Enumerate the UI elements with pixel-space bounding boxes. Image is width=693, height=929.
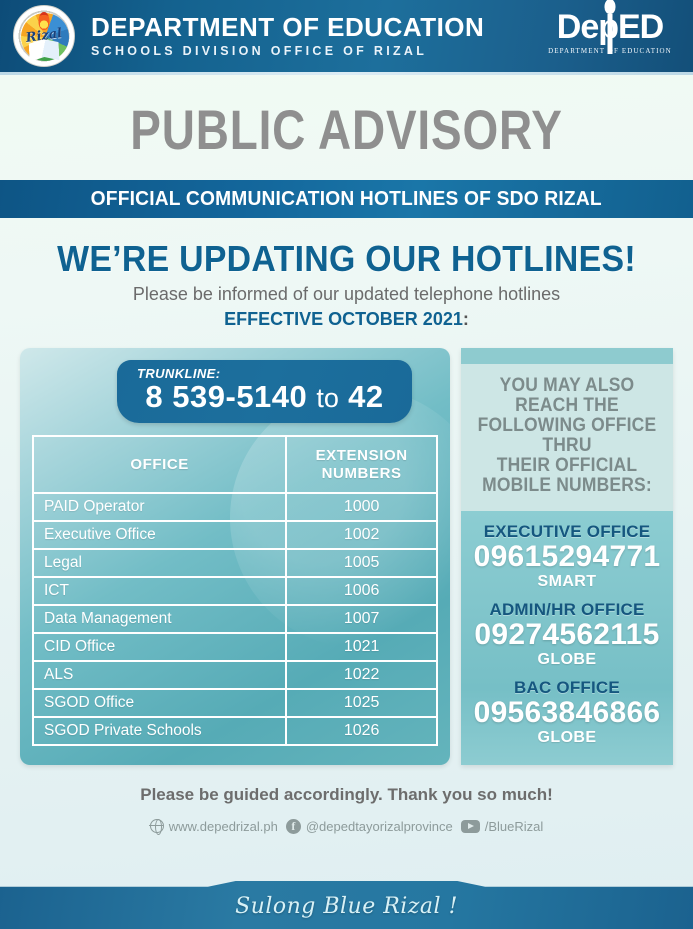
effective-date-colon: : [463, 309, 469, 329]
youtube-handle: /BlueRizal [485, 819, 544, 834]
cell-office: SGOD Private Schools [34, 718, 287, 744]
cell-office: Data Management [34, 606, 287, 634]
table-row: ICT1006 [34, 578, 436, 606]
mobile-entry-office: ADMIN/HR OFFICE [467, 601, 667, 620]
mobile-panel-top-bar [461, 348, 673, 364]
table-row: SGOD Private Schools1026 [34, 718, 436, 744]
column-header-extension-line2: NUMBERS [293, 465, 430, 482]
extension-numbers-table: OFFICE EXTENSION NUMBERS PAID Operator10… [32, 435, 438, 746]
youtube-icon [461, 820, 480, 833]
subtitle-banner: OFFICIAL COMMUNICATION HOTLINES OF SDO R… [0, 180, 693, 218]
page-title: PUBLIC ADVISORY [62, 102, 630, 158]
cell-extension: 1006 [287, 578, 436, 606]
cell-extension: 1022 [287, 662, 436, 690]
deped-torch-stem-icon [608, 14, 613, 54]
youtube-link[interactable]: /BlueRizal [461, 819, 544, 834]
table-header-row: OFFICE EXTENSION NUMBERS [34, 437, 436, 494]
cell-extension: 1000 [287, 494, 436, 522]
social-links: www.depedrizal.ph f @depedtayorizalprovi… [0, 819, 693, 834]
table-row: Data Management1007 [34, 606, 436, 634]
column-header-extension-line1: EXTENSION [293, 447, 430, 464]
website-link[interactable]: www.depedrizal.ph [150, 819, 278, 834]
cell-extension: 1007 [287, 606, 436, 634]
mobile-note-line-2: FOLLOWING OFFICE THRU [477, 416, 657, 456]
cell-office: PAID Operator [34, 494, 287, 522]
table-row: ALS1022 [34, 662, 436, 690]
mobile-entry: BAC OFFICE 09563846866 GLOBE [467, 679, 667, 747]
lead-subline: Please be informed of our updated teleph… [0, 284, 693, 305]
facebook-link[interactable]: f @depedtayorizalprovince [286, 819, 453, 834]
table-row: CID Office1021 [34, 634, 436, 662]
cell-office: Legal [34, 550, 287, 578]
division-office-name: SCHOOLS DIVISION OFFICE OF RIZAL [91, 44, 484, 58]
column-header-office: OFFICE [34, 437, 287, 494]
mobile-numbers-panel: YOU MAY ALSO REACH THE FOLLOWING OFFICE … [461, 348, 673, 765]
facebook-handle: @depedtayorizalprovince [306, 819, 453, 834]
mobile-entry-carrier: GLOBE [467, 651, 667, 669]
column-header-extension: EXTENSION NUMBERS [287, 437, 436, 494]
facebook-icon: f [286, 819, 301, 834]
website-url: www.depedrizal.ph [169, 819, 278, 834]
mobile-note-line-3: THEIR OFFICIAL [477, 456, 657, 476]
table-head: OFFICE EXTENSION NUMBERS [34, 437, 436, 494]
cell-extension: 1025 [287, 690, 436, 718]
closing-message: Please be guided accordingly. Thank you … [0, 785, 693, 805]
deped-logo: DepED DEPARTMENT OF EDUCATION [545, 10, 675, 55]
header-titles: DEPARTMENT OF EDUCATION SCHOOLS DIVISION… [91, 14, 484, 58]
trunkline-panel: TRUNKLINE: 8 539-5140 to 42 OFFICE EXTEN… [20, 348, 450, 765]
mobile-entry-office: EXECUTIVE OFFICE [467, 523, 667, 542]
mobile-panel-note: YOU MAY ALSO REACH THE FOLLOWING OFFICE … [461, 364, 673, 511]
mobile-entry: ADMIN/HR OFFICE 09274562115 GLOBE [467, 601, 667, 669]
lead-headline: WE’RE UPDATING OUR HOTLINES! [21, 240, 672, 278]
table-body: PAID Operator1000 Executive Office1002 L… [34, 494, 436, 744]
lead-section: WE’RE UPDATING OUR HOTLINES! Please be i… [0, 218, 693, 330]
department-name: DEPARTMENT OF EDUCATION [91, 14, 484, 41]
cell-extension: 1005 [287, 550, 436, 578]
mobile-entry-carrier: SMART [467, 573, 667, 591]
cell-extension: 1021 [287, 634, 436, 662]
mobile-entry-carrier: GLOBE [467, 729, 667, 747]
mobile-numbers-list: EXECUTIVE OFFICE 09615294771 SMART ADMIN… [461, 511, 673, 765]
subtitle-banner-text: OFFICIAL COMMUNICATION HOTLINES OF SDO R… [91, 188, 602, 211]
trunkline-box: TRUNKLINE: 8 539-5140 to 42 [117, 360, 412, 424]
mobile-entry-office: BAC OFFICE [467, 679, 667, 698]
cell-office: SGOD Office [34, 690, 287, 718]
cell-office: Executive Office [34, 522, 287, 550]
mobile-note-line-4: MOBILE NUMBERS: [477, 476, 657, 496]
page-header: Rizal DEPARTMENT OF EDUCATION SCHOOLS DI… [0, 0, 693, 75]
trunkline-range-end: 42 [348, 379, 383, 414]
effective-date-line: EFFECTIVE OCTOBER 2021: [0, 309, 693, 330]
trunkline-number: 8 539-5140 to 42 [133, 381, 396, 414]
cell-office: CID Office [34, 634, 287, 662]
mobile-entry: EXECUTIVE OFFICE 09615294771 SMART [467, 523, 667, 591]
mobile-entry-number[interactable]: 09563846866 [467, 697, 667, 729]
public-advisory-poster: Rizal DEPARTMENT OF EDUCATION SCHOOLS DI… [0, 0, 693, 929]
sdo-rizal-seal-icon: Rizal [13, 5, 75, 67]
trunkline-base-number: 8 539-5140 [145, 379, 307, 414]
tagline: Sulong Blue Rizal ! [0, 894, 693, 919]
trunkline-to-word: to [316, 383, 339, 413]
effective-date: EFFECTIVE OCTOBER 2021 [224, 309, 463, 329]
table-row: Executive Office1002 [34, 522, 436, 550]
table-row: Legal1005 [34, 550, 436, 578]
globe-icon [150, 819, 164, 833]
mobile-entry-number[interactable]: 09274562115 [467, 619, 667, 651]
cell-extension: 1002 [287, 522, 436, 550]
deped-wordmark: DepED [545, 10, 675, 44]
deped-flame-icon [605, 0, 616, 14]
cell-office: ICT [34, 578, 287, 606]
content-area: TRUNKLINE: 8 539-5140 to 42 OFFICE EXTEN… [0, 348, 693, 765]
table-row: SGOD Office1025 [34, 690, 436, 718]
cell-extension: 1026 [287, 718, 436, 744]
bottom-banner: Sulong Blue Rizal ! [0, 875, 693, 929]
mobile-entry-number[interactable]: 09615294771 [467, 541, 667, 573]
mobile-note-line-1: YOU MAY ALSO REACH THE [477, 376, 657, 416]
table-row: PAID Operator1000 [34, 494, 436, 522]
title-zone: PUBLIC ADVISORY [0, 75, 693, 158]
cell-office: ALS [34, 662, 287, 690]
